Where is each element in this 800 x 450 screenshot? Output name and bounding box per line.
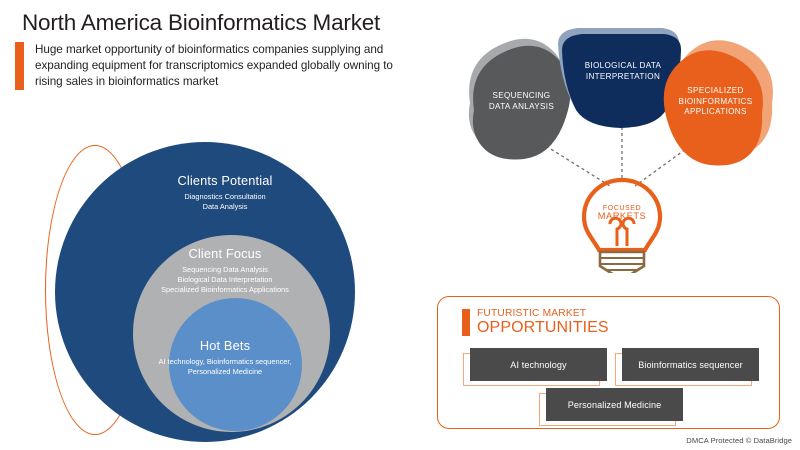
futuristic-box-ai-technology[interactable]: AI technology: [463, 353, 600, 386]
futuristic-box-label-ai-technology: AI technology: [470, 348, 607, 381]
focused-markets-diagram: SEQUENCING DATA ANLAYSIS BIOLOGICAL DATA…: [450, 18, 790, 273]
shape-specialized-bioinformatics-applications[interactable]: [664, 50, 763, 165]
futuristic-box-label-personalized-medicine: Personalized Medicine: [546, 388, 683, 421]
futuristic-box-bioinformatics-sequencer[interactable]: Bioinformatics sequencer: [615, 353, 752, 386]
shapes-svg: [450, 18, 790, 273]
venn-circle-hot-bets[interactable]: [169, 298, 302, 431]
futuristic-market-panel: FUTURISTIC MARKET OPPORTUNITIES AI techn…: [437, 296, 780, 429]
subtitle-block: Huge market opportunity of bioinformatic…: [15, 42, 405, 91]
connector-lines: [546, 121, 690, 186]
nested-circles-diagram: Clients Potential Diagnostics Consultati…: [45, 140, 405, 450]
infographic-canvas: North America Bioinformatics Market Huge…: [0, 0, 800, 450]
page-title: North America Bioinformatics Market: [22, 10, 380, 36]
subtitle-text: Huge market opportunity of bioinformatic…: [35, 42, 395, 91]
futuristic-heading-text: FUTURISTIC MARKET OPPORTUNITIES: [477, 309, 609, 336]
shape-biological-data-interpretation[interactable]: [562, 34, 681, 128]
subtitle-accent-bar: [15, 42, 24, 90]
futuristic-box-personalized-medicine[interactable]: Personalized Medicine: [539, 393, 676, 426]
futuristic-heading-line2: OPPORTUNITIES: [477, 320, 609, 336]
lightbulb-icon: [584, 180, 660, 273]
futuristic-box-label-bioinformatics-sequencer: Bioinformatics sequencer: [622, 348, 759, 381]
footer-copyright: DMCA Protected © DataBridge: [686, 436, 792, 445]
futuristic-panel-heading: FUTURISTIC MARKET OPPORTUNITIES: [462, 309, 609, 336]
futuristic-heading-accent-bar: [462, 309, 470, 336]
futuristic-heading-line1: FUTURISTIC MARKET: [477, 309, 609, 319]
